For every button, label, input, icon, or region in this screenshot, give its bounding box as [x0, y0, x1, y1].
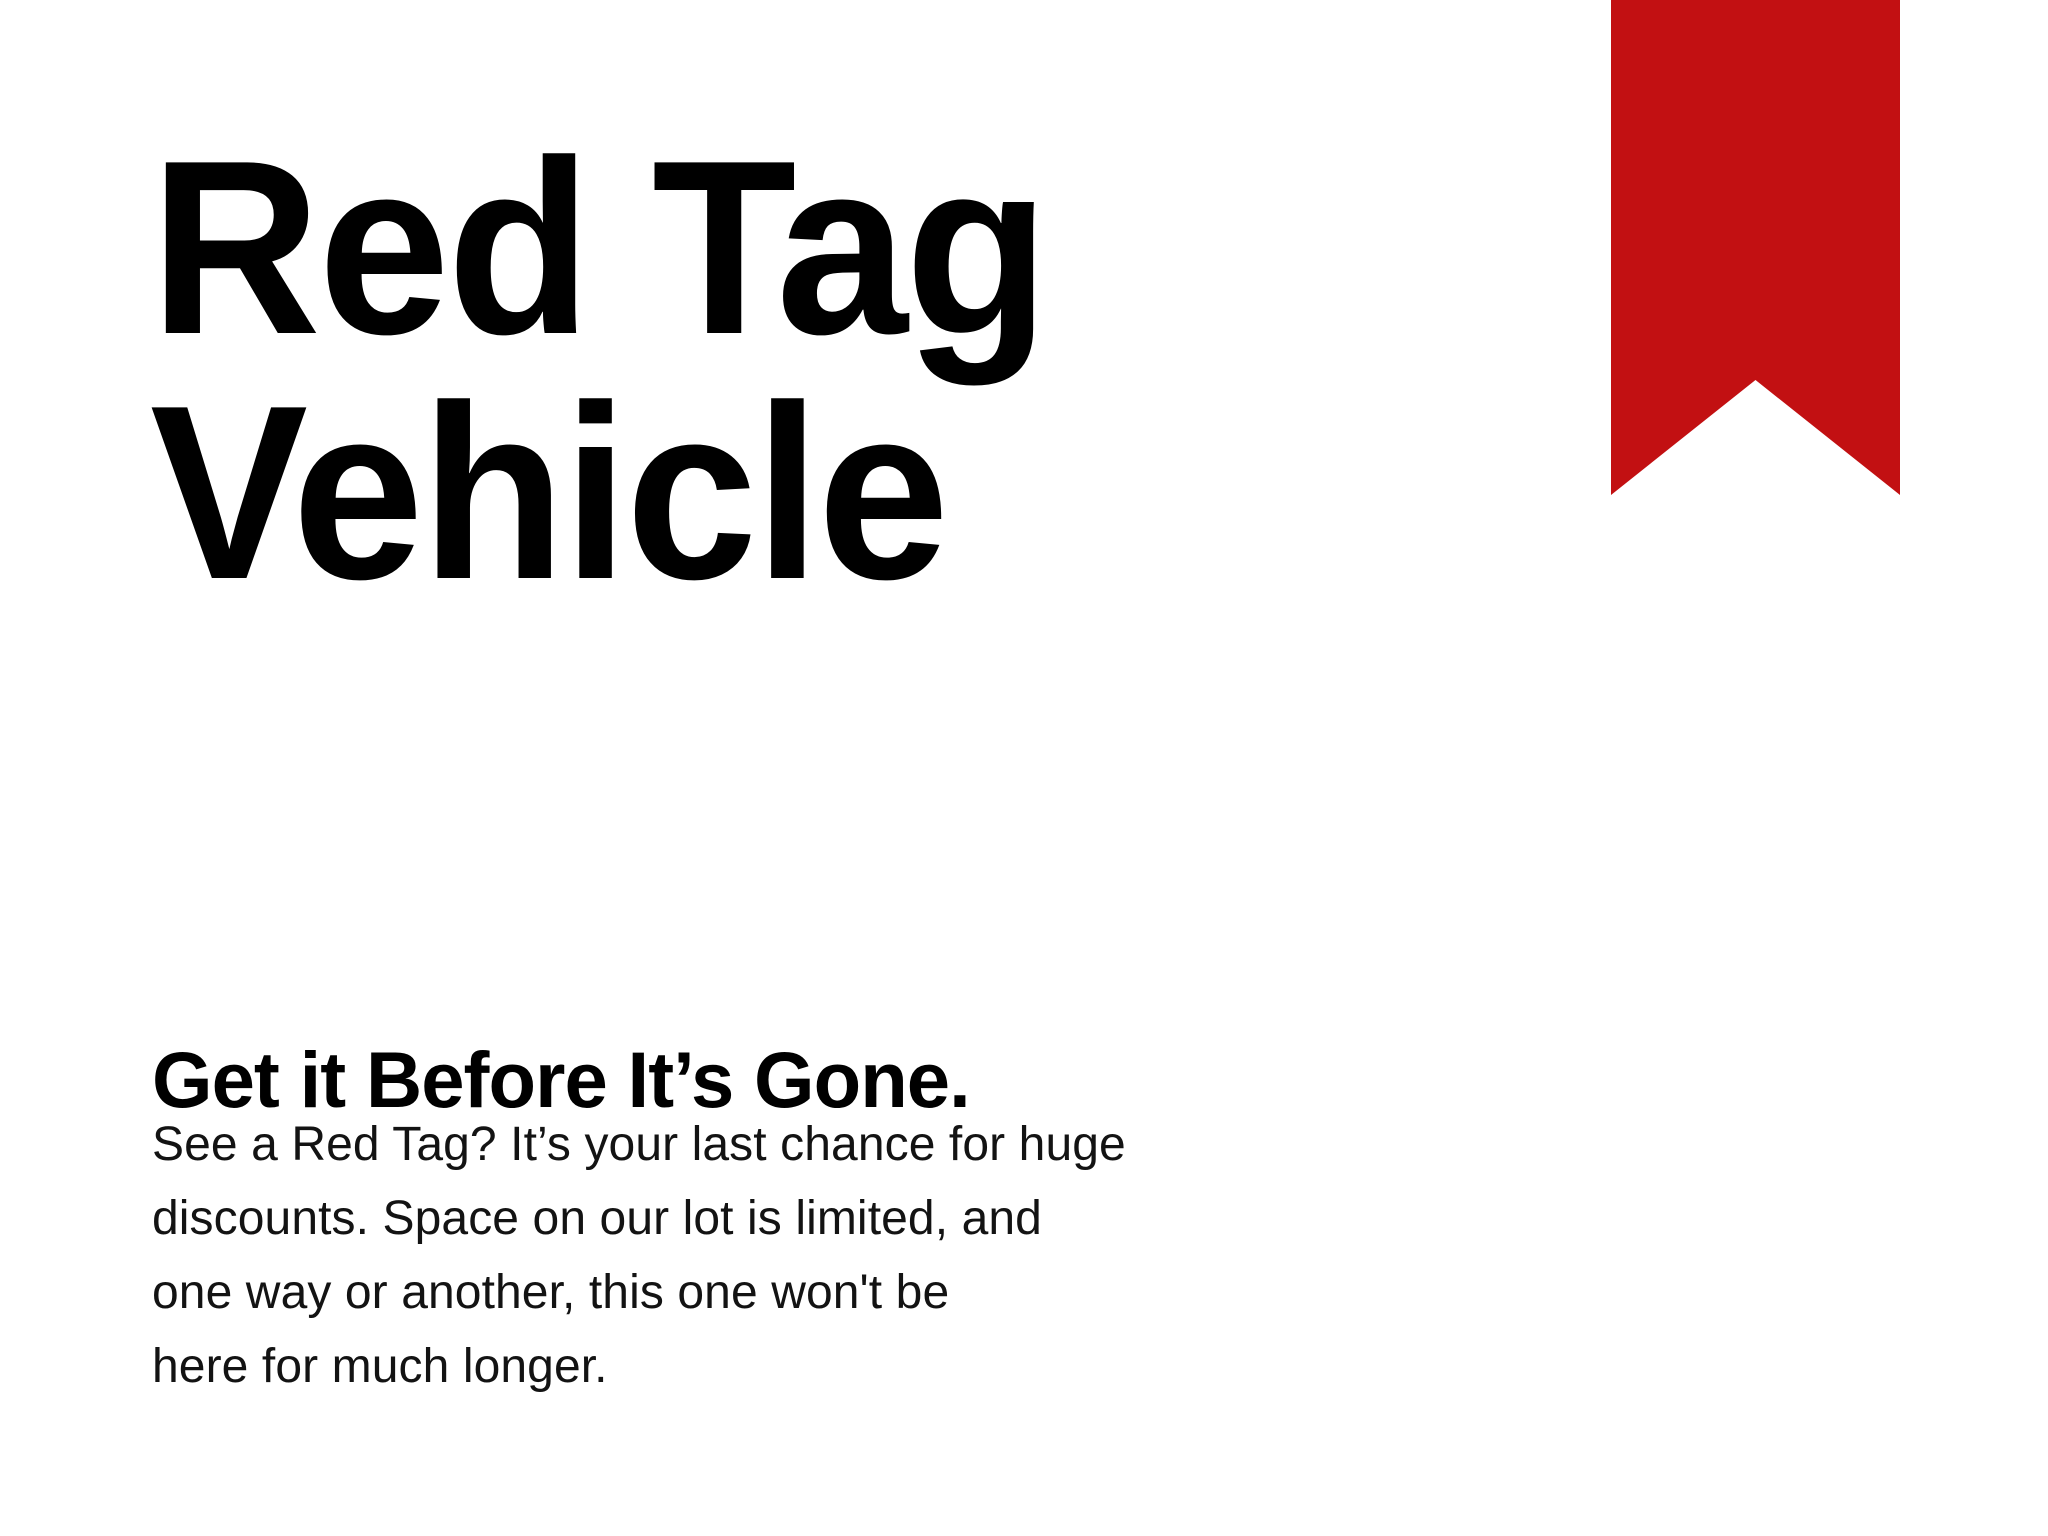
- body-line: one way or another, this one won't be: [152, 1256, 1332, 1330]
- headline-line-2: Vehicle: [150, 370, 1487, 614]
- red-tag-vehicle-promo-card: Red Tag Vehicle Get it Before It’s Gone.…: [0, 0, 2048, 1536]
- body-line: here for much longer.: [152, 1330, 1332, 1404]
- headline-line-1: Red Tag: [150, 125, 1487, 369]
- body-line: discounts. Space on our lot is limited, …: [152, 1182, 1332, 1256]
- page-title: Red Tag Vehicle: [150, 125, 1550, 614]
- body-paragraph: See a Red Tag? It’s your last chance for…: [152, 1108, 1332, 1404]
- red-tag-ribbon-icon: [1611, 0, 1900, 495]
- body-line: See a Red Tag? It’s your last chance for…: [152, 1108, 1332, 1182]
